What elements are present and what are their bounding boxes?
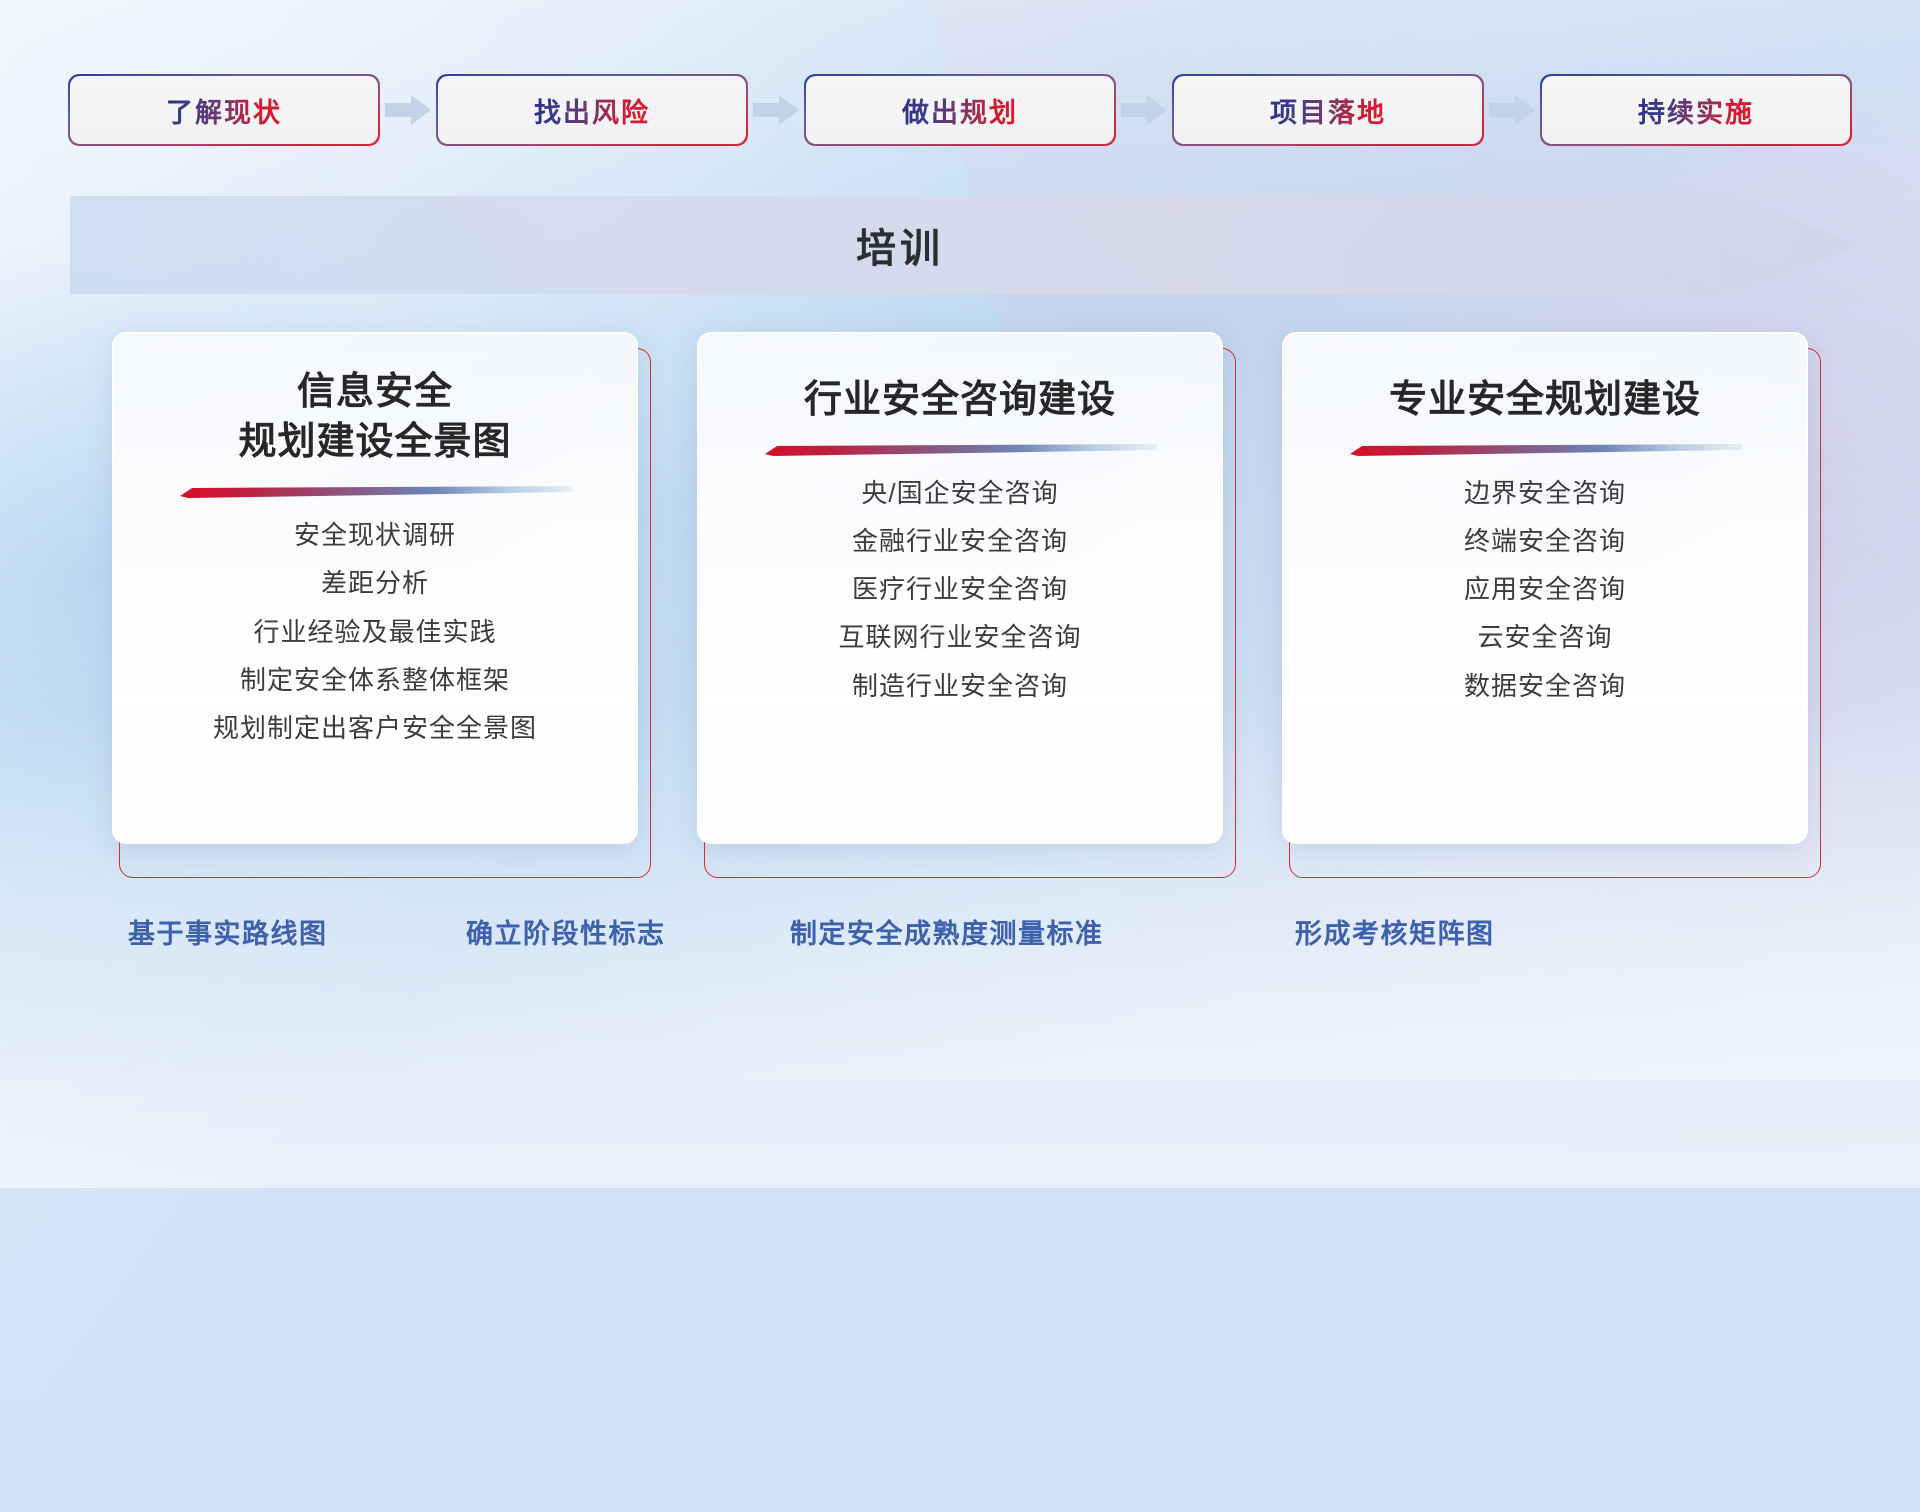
list-item: 终端安全咨询: [1464, 520, 1626, 562]
list-item: 医疗行业安全咨询: [852, 568, 1068, 610]
list-item: 数据安全咨询: [1464, 665, 1626, 707]
training-banner: 培训: [70, 196, 1860, 294]
card-3-title: 专业安全规划建设: [1389, 375, 1701, 425]
arrow-right-icon: [378, 76, 438, 144]
step-box-5[interactable]: 持续实施: [1542, 76, 1850, 144]
card-2-body[interactable]: 行业安全咨询建设: [697, 332, 1223, 844]
outcome-label-1: 基于事实路线图: [128, 912, 328, 951]
card-1: 信息安全 规划建设全景图: [112, 332, 642, 872]
step-label-2: 找出风险: [534, 91, 650, 130]
list-item: 应用安全咨询: [1464, 568, 1626, 610]
outcome-label-row: 基于事实路线图 确立阶段性标志 制定安全成熟度测量标准 形成考核矩阵图: [0, 912, 1920, 968]
card-1-divider: [178, 485, 572, 498]
outcome-label-4: 形成考核矩阵图: [1295, 912, 1495, 951]
process-step-row: 了解现状 找出风险 做出规划 项目落地 持续实施: [70, 76, 1852, 144]
step-label-4: 项目落地: [1270, 91, 1386, 130]
card-1-title: 信息安全 规划建设全景图: [238, 367, 511, 467]
outcome-label-2: 确立阶段性标志: [466, 912, 666, 951]
list-item: 央/国企安全咨询: [861, 472, 1058, 514]
card-3-divider: [1348, 443, 1742, 456]
outcome-label-3: 制定安全成熟度测量标准: [790, 912, 1104, 951]
arrow-right-icon: [1482, 76, 1542, 144]
step-label-3: 做出规划: [902, 91, 1018, 130]
list-item: 互联网行业安全咨询: [838, 616, 1081, 658]
list-item: 云安全咨询: [1477, 616, 1612, 658]
arrow-right-icon: [746, 76, 806, 144]
card-1-list: 安全现状调研 差距分析 行业经验及最佳实践 制定安全体系整体框架 规划制定出客户…: [113, 514, 637, 749]
list-item: 边界安全咨询: [1464, 472, 1626, 514]
step-box-3[interactable]: 做出规划: [806, 76, 1114, 144]
list-item: 规划制定出客户安全全景图: [213, 707, 537, 749]
step-label-1: 了解现状: [166, 91, 282, 130]
card-2: 行业安全咨询建设: [697, 332, 1227, 872]
card-row: 信息安全 规划建设全景图: [112, 332, 1812, 872]
card-3: 专业安全规划建设: [1282, 332, 1812, 872]
list-item: 安全现状调研: [294, 514, 456, 556]
list-item: 金融行业安全咨询: [852, 520, 1068, 562]
step-box-4[interactable]: 项目落地: [1174, 76, 1482, 144]
card-3-body[interactable]: 专业安全规划建设: [1282, 332, 1808, 844]
list-item: 差距分析: [321, 562, 429, 604]
arrow-right-icon: [1114, 76, 1174, 144]
step-label-5: 持续实施: [1638, 91, 1754, 130]
step-box-1[interactable]: 了解现状: [70, 76, 378, 144]
training-banner-title: 培训: [70, 196, 1860, 294]
list-item: 制定安全体系整体框架: [240, 659, 510, 701]
list-item: 行业经验及最佳实践: [253, 611, 496, 653]
list-item: 制造行业安全咨询: [852, 665, 1068, 707]
card-2-title: 行业安全咨询建设: [804, 375, 1116, 425]
step-box-2[interactable]: 找出风险: [438, 76, 746, 144]
card-2-list: 央/国企安全咨询 金融行业安全咨询 医疗行业安全咨询 互联网行业安全咨询 制造行…: [698, 472, 1222, 707]
card-1-body[interactable]: 信息安全 规划建设全景图: [112, 332, 638, 844]
card-2-divider: [763, 443, 1157, 456]
card-3-list: 边界安全咨询 终端安全咨询 应用安全咨询 云安全咨询 数据安全咨询: [1283, 472, 1807, 707]
